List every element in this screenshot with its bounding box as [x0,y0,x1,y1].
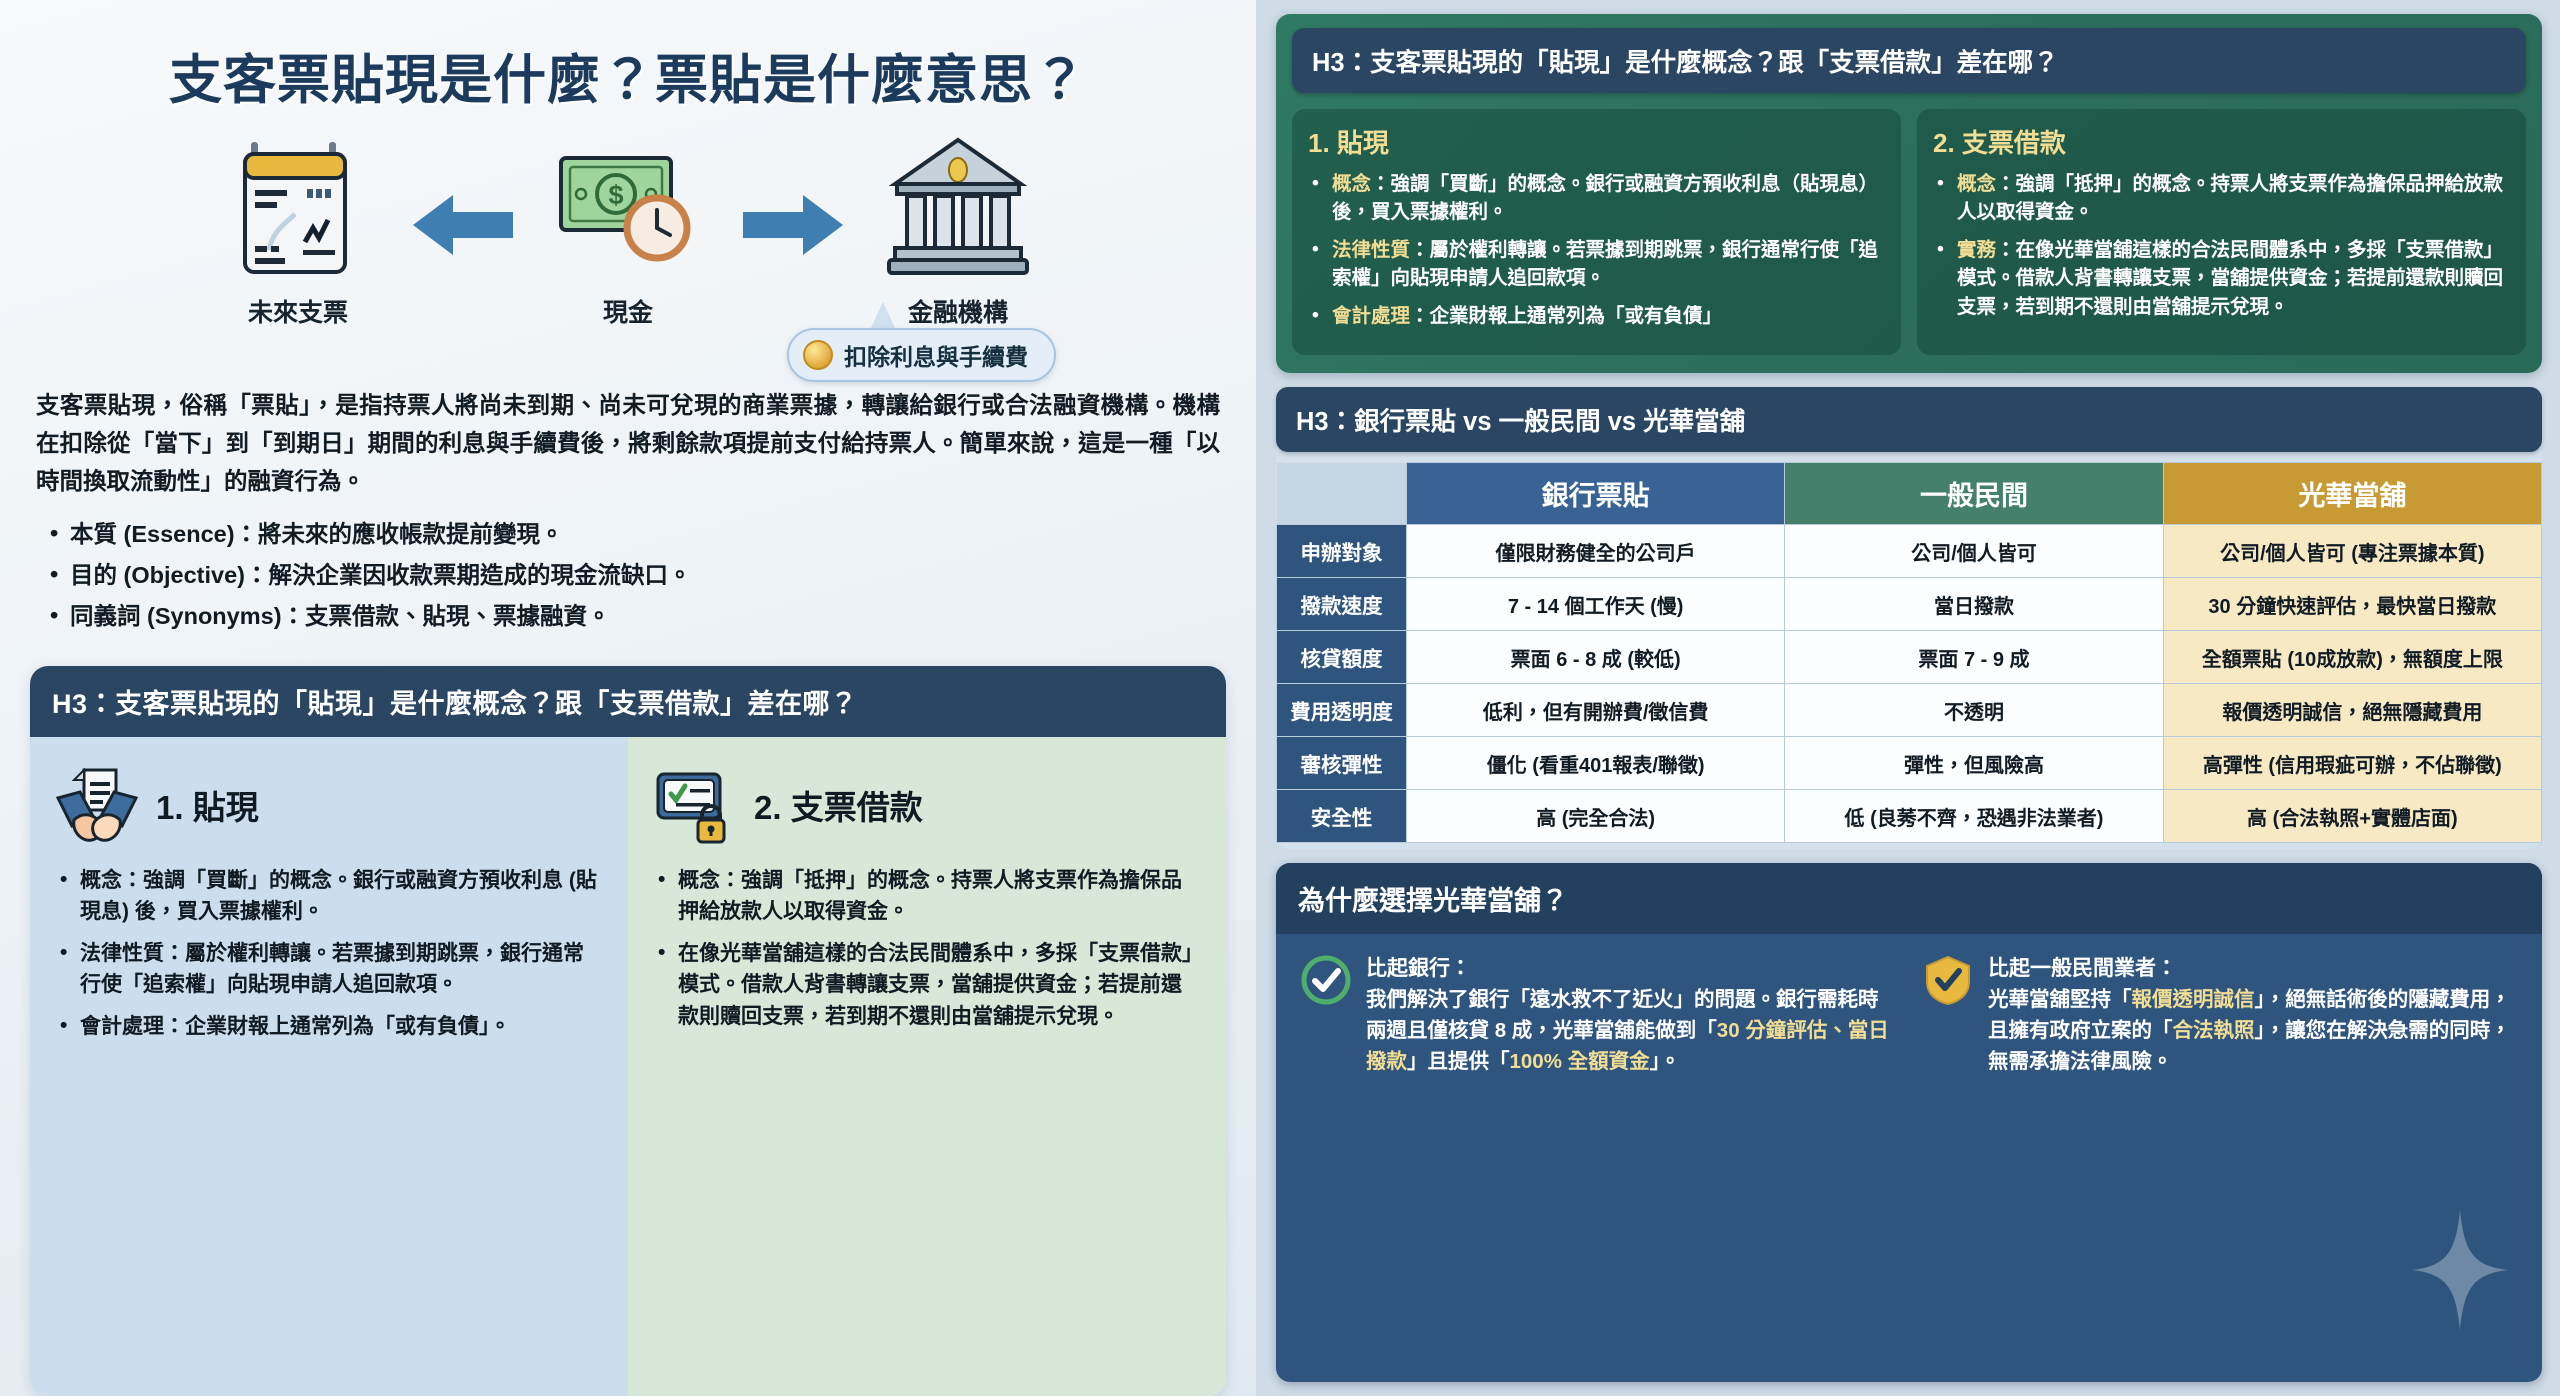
flow-label-future-check: 未來支票 [198,293,398,329]
bullet-label: 實務 [1957,239,1996,261]
table-header-row: 銀行票貼 一般民間 光華當舖 [1277,463,2542,525]
column-header-private: 一般民間 [1785,463,2163,525]
cell-private: 票面 7 - 9 成 [1785,631,2163,684]
concept-card: H3：支客票貼現的「貼現」是什麼概念？跟「支票借款」差在哪？ 1. 貼現 概念：… [1276,14,2542,373]
table-row: 安全性 高 (完全合法) 低 (良莠不齊，恐遇非法業者) 高 (合法執照+實體店… [1277,790,2542,843]
check-document-icon [233,132,363,282]
cell-private: 不透明 [1785,684,2163,737]
cell-private: 彈性，但風險高 [1785,737,2163,790]
list-item: 法律性質：屬於權利轉讓。若票據到期跳票，銀行通常行使「追索權」向貼現申請人追回款… [1332,236,1885,293]
list-item: 概念：強調「買斷」的概念。銀行或融資方預收利息 (貼現息) 後，買入票據權利。 [80,865,604,928]
check-loan-column: 2. 支票借款 概念：強調「抵押」的概念。持票人將支票作為擔保品押給放款人以取得… [628,737,1226,1396]
svg-text:$: $ [608,180,623,210]
list-item: 本質 (Essence)：將未來的應收帳款提前變現。 [70,516,1226,553]
list-item: 在像光華當舖這樣的合法民間體系中，多採「支票借款」模式。借款人背書轉讓支票，當舖… [678,938,1202,1033]
flow-node-cash: $ 現金 [528,132,728,329]
cell-private: 公司/個人皆可 [1785,525,2163,578]
why-item-body: 我們解決了銀行「遠水救不了近火」的問題。銀行需耗時兩週且僅核貸 8 成，光華當舖… [1366,985,1896,1077]
concept-card-header: H3：支客票貼現的「貼現」是什麼概念？跟「支票借款」差在哪？ [1292,28,2526,93]
list-item: 概念：強調「抵押」的概念。持票人將支票作為擔保品押給放款人以取得資金。 [678,865,1202,928]
check-circle-icon [1300,954,1352,1006]
right-panel: H3：支客票貼現的「貼現」是什麼概念？跟「支票借款」差在哪？ 1. 貼現 概念：… [1256,0,2560,1396]
row-label: 審核彈性 [1277,737,1407,790]
comparison-card-left-header: H3：支客票貼現的「貼現」是什麼概念？跟「支票借款」差在哪？ [30,666,1226,737]
comparison-card-left: H3：支客票貼現的「貼現」是什麼概念？跟「支票借款」差在哪？ [30,666,1226,1396]
cell-bank: 僅限財務健全的公司戶 [1407,525,1785,578]
list-item: 同義詞 (Synonyms)：支票借款、貼現、票據融資。 [70,598,1226,635]
concept-checkloan-subcard: 2. 支票借款 概念：強調「抵押」的概念。持票人將支票作為擔保品押給放款人以取得… [1917,109,2526,355]
cell-bank: 高 (完全合法) [1407,790,1785,843]
table-corner-cell [1277,463,1407,525]
list-item: 會計處理：企業財報上通常列為「或有負債」。 [80,1011,604,1043]
fee-callout-label: 扣除利息與手續費 [844,338,1028,372]
intro-bullet-list: 本質 (Essence)：將未來的應收帳款提前變現。 目的 (Objective… [70,516,1226,639]
arrow-right-icon [738,190,848,265]
flow-node-bank: 金融機構 [858,132,1058,329]
bullet-label: 法律性質 [1332,239,1410,261]
list-item: 概念：強調「買斷」的概念。銀行或融資方預收利息（貼現息）後，買入票據權利。 [1332,170,1885,227]
cell-guanghua: 30 分鐘快速評估，最快當日撥款 [2163,578,2541,631]
bullet-text: ：強調「買斷」的概念。銀行或融資方預收利息（貼現息）後，買入票據權利。 [1332,173,1878,223]
bullet-label: 概念 [1957,173,1996,195]
sparkle-watermark-icon [2412,1210,2508,1330]
cell-bank: 低利，但有開辦費/徵信費 [1407,684,1785,737]
why-item-title: 比起一般民間業者： [1988,952,2518,982]
concept-checkloan-title: 2. 支票借款 [1933,123,2510,160]
comparison-table-header: H3：銀行票貼 vs 一般民間 vs 光華當舖 [1276,387,2542,452]
list-item: 目的 (Objective)：解決企業因收款票期造成的現金流缺口。 [70,557,1226,594]
why-item-vs-bank: 比起銀行： 我們解決了銀行「遠水救不了近火」的問題。銀行需耗時兩週且僅核貸 8 … [1300,952,1896,1366]
table-row: 審核彈性 僵化 (看重401報表/聯徵) 彈性，但風險高 高彈性 (信用瑕疵可辦… [1277,737,2542,790]
cell-guanghua: 公司/個人皆可 (專注票據本質) [2163,525,2541,578]
bullet-text: ：屬於權利轉讓。若票據到期跳票，銀行通常行使「追索權」向貼現申請人追回款項。 [1332,239,1878,289]
column-header-guanghua: 光華當舖 [2163,463,2541,525]
row-label: 核貸額度 [1277,631,1407,684]
row-label: 安全性 [1277,790,1407,843]
arrow-left-icon [408,190,518,265]
flow-diagram: 未來支票 $ 現金 [30,132,1226,362]
row-label: 撥款速度 [1277,578,1407,631]
comparison-table: 銀行票貼 一般民間 光華當舖 申辦對象 僅限財務健全的公司戶 公司/個人皆可 公… [1276,462,2542,843]
concept-discount-subcard: 1. 貼現 概念：強調「買斷」的概念。銀行或融資方預收利息（貼現息）後，買入票據… [1292,109,1901,355]
bubble-tail [870,302,896,330]
column-header-bank: 銀行票貼 [1407,463,1785,525]
comparison-table-card: H3：銀行票貼 vs 一般民間 vs 光華當舖 銀行票貼 一般民間 光華當舖 申… [1276,387,2542,849]
cell-guanghua: 報價透明誠信，絕無隱藏費用 [2163,684,2541,737]
handshake-document-icon [54,762,140,848]
why-choose-card: 為什麼選擇光華當舖？ 比起銀行： 我們解決了銀行「遠水救不了近火」的問題。銀行需… [1276,863,2542,1382]
discount-column: 1. 貼現 概念：強調「買斷」的概念。銀行或融資方預收利息 (貼現息) 後，買入… [30,737,628,1396]
flow-label-cash: 現金 [528,293,728,329]
cell-guanghua: 高 (合法執照+實體店面) [2163,790,2541,843]
page-title: 支客票貼現是什麼？票貼是什麼意思？ [30,38,1226,114]
why-choose-header: 為什麼選擇光華當舖？ [1276,863,2542,934]
discount-column-title: 1. 貼現 [156,781,259,829]
table-row: 核貸額度 票面 6 - 8 成 (較低) 票面 7 - 9 成 全額票貼 (10… [1277,631,2542,684]
row-label: 申辦對象 [1277,525,1407,578]
cell-bank: 僵化 (看重401報表/聯徵) [1407,737,1785,790]
bullet-text: ：強調「抵押」的概念。持票人將支票作為擔保品押給放款人以取得資金。 [1957,173,2503,223]
table-row: 費用透明度 低利，但有開辦費/徵信費 不透明 報價透明誠信，絕無隱藏費用 [1277,684,2542,737]
row-label: 費用透明度 [1277,684,1407,737]
list-item: 實務：在像光華當舖這樣的合法民間體系中，多採「支票借款」模式。借款人背書轉讓支票… [1957,236,2510,321]
intro-paragraph: 支客票貼現，俗稱「票貼」，是指持票人將尚未到期、尚未可兌現的商業票據，轉讓給銀行… [30,386,1226,500]
cash-clock-icon: $ [553,132,703,282]
coin-icon [803,340,833,370]
why-item-title: 比起銀行： [1366,952,1896,982]
concept-discount-title: 1. 貼現 [1308,123,1885,160]
bullet-label: 會計處理 [1332,305,1410,327]
fee-callout: 扣除利息與手續費 [787,328,1056,382]
table-row: 撥款速度 7 - 14 個工作天 (慢) 當日撥款 30 分鐘快速評估，最快當日… [1277,578,2542,631]
list-item: 概念：強調「抵押」的概念。持票人將支票作為擔保品押給放款人以取得資金。 [1957,170,2510,227]
cell-bank: 票面 6 - 8 成 (較低) [1407,631,1785,684]
cell-bank: 7 - 14 個工作天 (慢) [1407,578,1785,631]
cell-guanghua: 全額票貼 (10成放款)，無額度上限 [2163,631,2541,684]
check-loan-column-title: 2. 支票借款 [754,781,923,829]
cell-private: 低 (良莠不齊，恐遇非法業者) [1785,790,2163,843]
shield-check-icon [1922,954,1974,1006]
cell-guanghua: 高彈性 (信用瑕疵可辦，不佔聯徵) [2163,737,2541,790]
table-row: 申辦對象 僅限財務健全的公司戶 公司/個人皆可 公司/個人皆可 (專注票據本質) [1277,525,2542,578]
why-item-body: 光華當舖堅持「報價透明誠信」，絕無話術後的隱藏費用，且擁有政府立案的「合法執照」… [1988,985,2518,1077]
flow-node-future-check: 未來支票 [198,132,398,329]
bullet-text: ：在像光華當舖這樣的合法民間體系中，多採「支票借款」模式。借款人背書轉讓支票，當… [1957,239,2503,318]
list-item: 法律性質：屬於權利轉讓。若票據到期跳票，銀行通常行使「追索權」向貼現申請人追回款… [80,938,604,1001]
left-panel: 支客票貼現是什麼？票貼是什麼意思？ 未來支票 [0,0,1256,1396]
list-item: 會計處理：企業財報上通常列為「或有負債」 [1332,302,1885,330]
bullet-label: 概念 [1332,173,1371,195]
check-lock-icon [652,762,738,848]
bank-building-icon [883,132,1033,282]
cell-private: 當日撥款 [1785,578,2163,631]
bullet-text: ：企業財報上通常列為「或有負債」 [1410,305,1722,327]
